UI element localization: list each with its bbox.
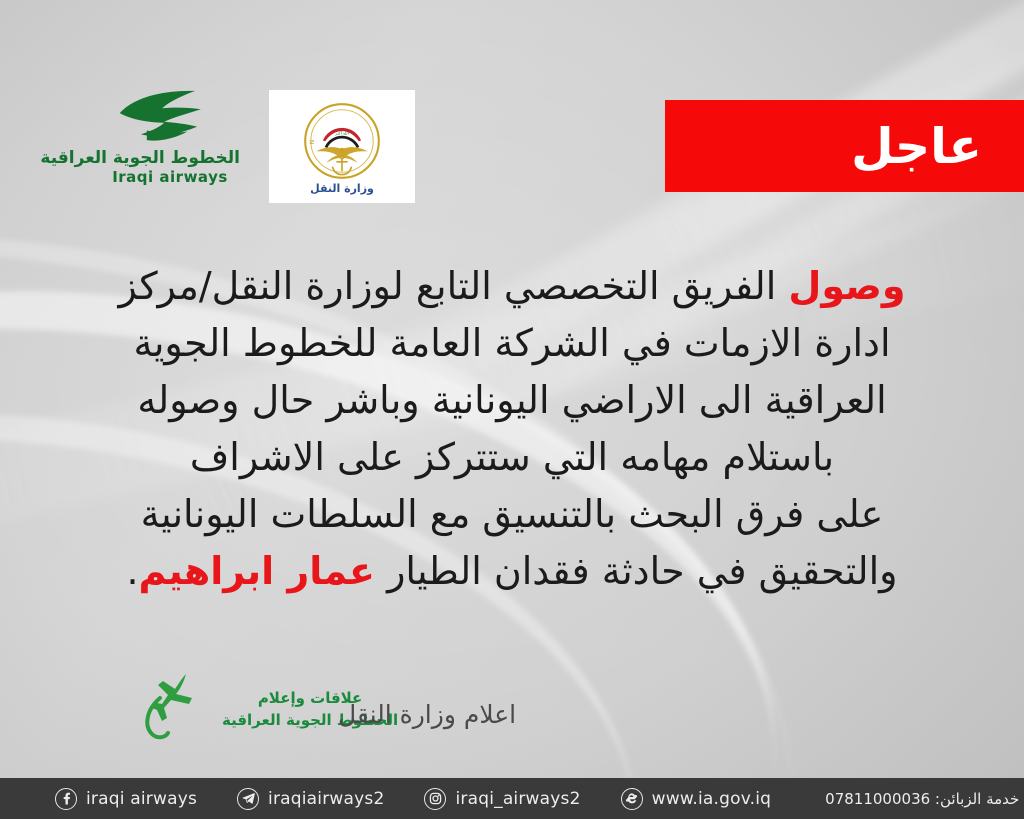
credit-block: علاقات وإعلام الخطوط الجوية العراقية اعل… xyxy=(130,668,650,750)
ministry-name-ar: وزارة النقل xyxy=(310,182,374,195)
swift-bird-icon xyxy=(111,88,229,144)
announcement-line-6-text: والتحقيق في حادثة فقدان الطيار xyxy=(375,549,898,593)
announcement-line-1: وصول الفريق التخصصي التابع لوزارة النقل/… xyxy=(96,258,928,315)
poster-header: الخطوط الجوية العراقية Iraqi airways MIN… xyxy=(0,0,1024,215)
announcement-body: وصول الفريق التخصصي التابع لوزارة النقل/… xyxy=(96,258,928,600)
svg-text:الله أكبر: الله أكبر xyxy=(334,131,349,136)
announcement-poster: الخطوط الجوية العراقية Iraqi airways MIN… xyxy=(0,0,1024,819)
ministry-media-label: اعلام وزارة النقل xyxy=(338,700,516,729)
website-handle: www.ia.gov.iq xyxy=(652,789,772,809)
social-facebook[interactable]: iraqi airways xyxy=(55,788,197,810)
announcement-line-3: العراقية الى الاراضي اليونانية وباشر حال… xyxy=(96,372,928,429)
instagram-handle: iraqi_airways2 xyxy=(455,789,580,809)
announcement-highlight-arrival: وصول xyxy=(788,264,905,308)
announcement-line-6-suffix: . xyxy=(126,549,138,593)
social-footer-bar: iraqi airways iraqiairways2 iraqi_airway… xyxy=(0,778,1024,819)
internet-explorer-icon xyxy=(621,788,643,810)
airline-name-en: Iraqi airways xyxy=(100,169,240,186)
facebook-handle: iraqi airways xyxy=(86,789,197,809)
airplane-trail-icon xyxy=(140,668,214,742)
iraqi-airways-logo: الخطوط الجوية العراقية Iraqi airways xyxy=(100,88,240,185)
telegram-handle: iraqiairways2 xyxy=(268,789,384,809)
announcement-line-1-text: الفريق التخصصي التابع لوزارة النقل/مركز xyxy=(119,264,789,308)
customer-service-hotline: خدمة الزبائن: 07811000036 xyxy=(825,790,1019,808)
facebook-icon xyxy=(55,788,77,810)
ministry-emblem-icon: MINISTRY OF TRANSPORTATION الله أكبر xyxy=(302,101,382,181)
instagram-icon xyxy=(424,788,446,810)
announcement-line-2: ادارة الازمات في الشركة العامة للخطوط ال… xyxy=(96,315,928,372)
social-instagram[interactable]: iraqi_airways2 xyxy=(424,788,580,810)
urgent-banner: عاجل xyxy=(665,100,1024,192)
airline-name-ar: الخطوط الجوية العراقية xyxy=(100,149,240,168)
announcement-line-5: على فرق البحث بالتنسيق مع السلطات اليونا… xyxy=(96,486,928,543)
pilot-name-highlight: عمار ابراهيم xyxy=(139,549,375,593)
telegram-icon xyxy=(237,788,259,810)
announcement-line-4: باستلام مهامه التي ستتركز على الاشراف xyxy=(96,429,928,486)
urgent-label: عاجل xyxy=(851,122,982,171)
social-telegram[interactable]: iraqiairways2 xyxy=(237,788,384,810)
ministry-of-transportation-logo: MINISTRY OF TRANSPORTATION الله أكبر وزا… xyxy=(269,90,415,203)
announcement-line-6: والتحقيق في حادثة فقدان الطيار عمار ابرا… xyxy=(96,543,928,600)
social-website[interactable]: www.ia.gov.iq xyxy=(621,788,772,810)
